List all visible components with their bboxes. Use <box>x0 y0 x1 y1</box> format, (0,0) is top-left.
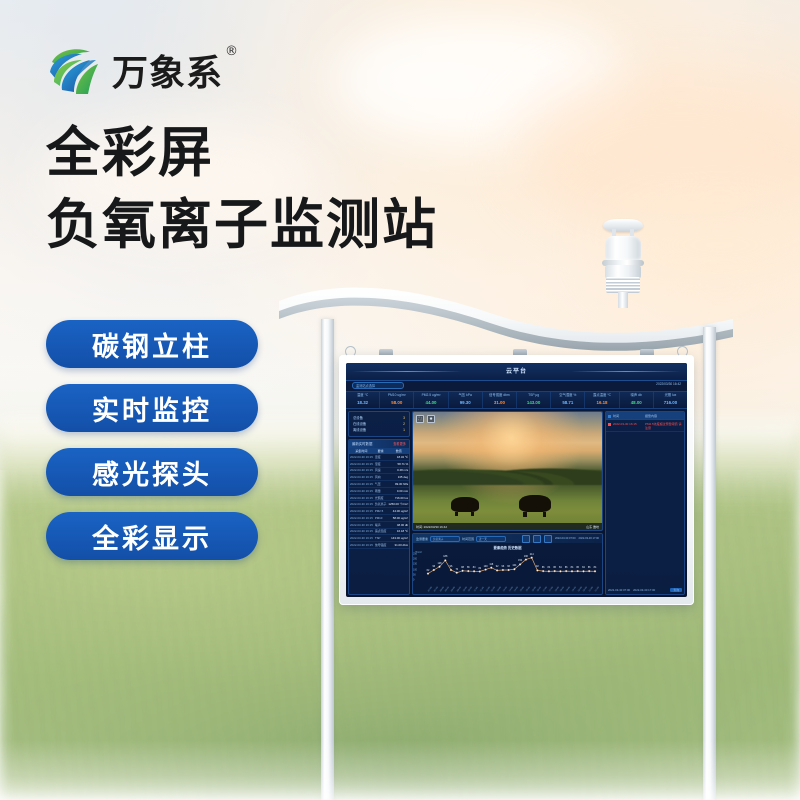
cell-value: 16.18 ℃ <box>387 528 410 535</box>
chart-title: 要素趋势 历史数据 <box>413 545 602 550</box>
cell-value: 0.00 mm <box>387 487 410 494</box>
chart-point[interactable] <box>479 571 481 573</box>
dashboard-clock: 2022/03/30 16:42 <box>656 382 681 386</box>
metric-value: 18.32 <box>346 399 379 407</box>
alarm-query-button[interactable]: 查询 <box>670 588 682 592</box>
line-chart-icon[interactable] <box>533 535 541 543</box>
chart-range-label: 时间范围 <box>462 537 474 541</box>
chart-point-label: 86 <box>565 566 568 569</box>
realtime-data-rows: 2022-03-30 16:15温度18.32 ℃2022-03-30 16:1… <box>349 454 410 548</box>
cell-time: 2022-03-30 16:15 <box>349 528 374 535</box>
chart-y-tick: 50 <box>413 573 416 576</box>
chart-point-label: 100 <box>484 564 488 567</box>
chart-x-tick: 20:00 <box>578 587 583 593</box>
table-row[interactable]: 2022-03-30 16:15光照度716.00 lux <box>349 494 410 501</box>
carbon-steel-post-right <box>703 327 716 800</box>
metric-humidity: 空气湿度 % 58.71 <box>551 392 585 408</box>
stat-row: 离线设备 1 <box>353 427 405 433</box>
alarm-date-from[interactable]: 2022-03-30 07:00 <box>608 588 630 592</box>
chart-x-tick: 09:00 <box>451 587 456 593</box>
metric-label: 气压 kPa <box>449 392 482 399</box>
chart-point[interactable] <box>467 570 469 572</box>
tree-line <box>413 459 602 485</box>
chart-point[interactable] <box>514 568 516 570</box>
metric-label: 温度 ℃ <box>346 392 379 399</box>
chart-point[interactable] <box>485 569 487 571</box>
cow-leg <box>455 512 458 517</box>
row-marker <box>608 415 611 418</box>
chart-x-tick: 10:00 <box>463 587 468 593</box>
chart-x-tick: 16:30 <box>537 587 542 593</box>
chart-point[interactable] <box>439 566 441 568</box>
alarm-footer: 2022-03-30 07:00 2022-03-30 17:00 查询 <box>606 586 684 594</box>
cell-value: 143.00 ug/m³ <box>387 535 410 542</box>
metric-value: 48.00 <box>620 399 653 407</box>
feature-pill-fullcolor-display[interactable]: 全彩显示 <box>46 512 258 560</box>
cell-name: 风向 <box>374 474 388 481</box>
sensor-body-upper <box>605 236 641 260</box>
carbon-steel-post-left <box>321 319 334 800</box>
cell-time: 2022-03-30 16:15 <box>349 460 374 467</box>
cell-name: 湿度 <box>374 460 388 467</box>
metric-label: 露点温度 ℃ <box>585 392 618 399</box>
chart-x-tick: 16:00 <box>532 587 537 593</box>
chart-date-to[interactable]: 2022-03-30 17:00 <box>579 537 599 540</box>
chart-point-label: 86 <box>467 566 470 569</box>
chart-point[interactable] <box>508 569 510 571</box>
metric-label: 噪声 db <box>620 392 653 399</box>
table-row[interactable]: 2022-03-30 16:15露点温度16.18 ℃ <box>349 528 410 535</box>
chart-x-tick: 11:30 <box>480 587 485 592</box>
chart-point[interactable] <box>542 570 544 572</box>
chart-point[interactable] <box>583 570 585 572</box>
feature-pill-list: 碳钢立柱 实时监控 感光探头 全彩显示 <box>46 320 258 560</box>
metric-value: 716.00 <box>654 399 687 407</box>
camera-toolbar: ⛶ ✸ <box>416 415 435 423</box>
chart-point[interactable] <box>588 570 590 572</box>
cell-value: 58.00 ug/m³ <box>387 515 410 522</box>
alarm-row[interactable]: 2022-03-30 16:15 PM2.5浓度超过预警阈值 请注意 <box>606 420 684 432</box>
cell-time: 2022-03-30 16:15 <box>349 542 374 549</box>
cell-time: 2022-03-30 16:15 <box>349 515 374 522</box>
chart-point[interactable] <box>554 570 556 572</box>
right-column: 时间 报警内容 2022-03-30 16:15 PM2.5浓度超过预警阈值 请… <box>605 411 685 595</box>
chart-x-tick: 10:30 <box>468 587 473 593</box>
metric-pm25: PM2.5 ug/m³ 44.00 <box>414 392 448 408</box>
metric-value: 44.00 <box>414 399 447 407</box>
chart-point-label: 82 <box>478 566 481 569</box>
metric-noise: 噪声 db 48.00 <box>620 392 654 408</box>
cell-name: 风速 <box>374 467 388 474</box>
realtime-data-header: 最新实时数据 查看更多 <box>349 440 409 448</box>
chart-point[interactable] <box>444 560 446 562</box>
registered-mark: ® <box>225 44 239 59</box>
cell-name: 信号强度 <box>374 542 388 549</box>
left-column: 总设备 3 在线设备 2 离线设备 1 <box>348 411 410 595</box>
table-row[interactable]: 2022-03-30 16:15湿度58.71 % <box>349 460 410 467</box>
alarm-text: PM2.5浓度超过预警阈值 请注意 <box>645 422 682 430</box>
chart-point-label: 86 <box>576 566 579 569</box>
alarm-panel: 时间 报警内容 2022-03-30 16:15 PM2.5浓度超过预警阈值 请… <box>605 411 685 595</box>
cell-time: 2022-03-30 16:15 <box>349 494 374 501</box>
bar-chart-icon[interactable] <box>522 535 530 543</box>
chart-point-label: 84 <box>571 566 574 569</box>
chart-point[interactable] <box>537 570 539 572</box>
cow-silhouette <box>451 497 479 512</box>
cell-name: 负氧离子 <box>374 501 388 508</box>
mount-bracket <box>379 349 393 355</box>
chart-x-tick: 15:30 <box>526 587 531 593</box>
cell-name: PM2.5 <box>374 508 388 515</box>
alarm-column-time: 时间 <box>613 414 643 418</box>
mount-bracket <box>640 349 654 355</box>
chart-point-label: 92 <box>496 565 499 568</box>
mount-hook-right <box>677 346 688 357</box>
chart-x-tick: 07:00 <box>428 587 433 593</box>
monitoring-station: 云平台 监测站点选择 2022/03/30 16:42 温度 ℃ 18.32 P… <box>255 215 745 785</box>
chart-x-tick: 14:30 <box>514 587 519 593</box>
chart-x-tick: 12:30 <box>491 587 496 593</box>
chart-x-tick: 19:00 <box>566 587 571 593</box>
cow-leg <box>471 512 474 517</box>
alert-marker <box>608 423 611 426</box>
chart-x-tick: 11:00 <box>474 587 479 592</box>
metric-label: 光照 lux <box>654 392 687 399</box>
chart-icon-group: 2022-03-30 07:00 2022-03-30 17:00 <box>522 535 599 543</box>
realtime-data-title: 最新实时数据 <box>352 442 372 446</box>
chart-point[interactable] <box>531 557 533 559</box>
metric-label: PM2.5 ug/m³ <box>414 392 447 399</box>
table-row[interactable]: 2022-03-30 16:15噪声48.00 db <box>349 521 410 528</box>
cell-name: 雨量 <box>374 487 388 494</box>
chart-point[interactable] <box>571 570 573 572</box>
camera-source: 山东 潍坊 <box>586 525 599 529</box>
camera-status-bar: 时间: 2022/03/30 16:42 山东 潍坊 <box>413 523 602 530</box>
chart-point-label: 62 <box>427 568 430 571</box>
chart-x-tick: 18:00 <box>555 587 560 593</box>
chart-x-tick: 20:30 <box>583 587 588 593</box>
chart-x-tick: 17:30 <box>549 587 554 593</box>
alarm-header-row: 时间 报警内容 <box>606 412 684 420</box>
chart-point[interactable] <box>502 569 504 571</box>
metric-pressure: 气压 kPa 99.30 <box>449 392 483 408</box>
cell-time: 2022-03-30 16:15 <box>349 474 374 481</box>
chart-point[interactable] <box>496 570 498 572</box>
cell-value: 44.00 ug/m³ <box>387 508 410 515</box>
brand-logo: 万象系 ® <box>46 42 223 98</box>
chart-x-tick: 17:00 <box>543 587 548 593</box>
chart-y-tick: 150 <box>413 563 417 566</box>
chart-x-tick: 18:30 <box>560 587 565 593</box>
table-row[interactable]: 2022-03-30 16:15信号强度31.00 dbm <box>349 542 410 549</box>
chart-point[interactable] <box>473 570 475 572</box>
cell-time: 2022-03-30 16:15 <box>349 508 374 515</box>
metric-label: TSP μg <box>517 392 550 399</box>
metric-dewpoint: 露点温度 ℃ 16.18 <box>585 392 619 408</box>
cell-value: 31.00 dbm <box>387 542 410 549</box>
cow-leg <box>523 512 526 517</box>
chart-point-label: 96 <box>507 565 510 568</box>
cell-name: 噪声 <box>374 521 388 528</box>
settings-icon[interactable]: ✸ <box>427 415 435 423</box>
chart-point[interactable] <box>548 570 550 572</box>
chart-point-label: 188 <box>443 555 447 558</box>
cell-name: PM10 <box>374 515 388 522</box>
chart-x-tick: 08:30 <box>445 587 450 593</box>
metrics-strip: 温度 ℃ 18.32 PM10 ug/m³ 58.00 PM2.5 ug/m³ … <box>346 391 687 409</box>
metric-signal: 信号强度 dbm 31.00 <box>483 392 517 408</box>
chart-range-select[interactable]: 近一天 <box>476 536 506 542</box>
cell-name: TSP <box>374 535 388 542</box>
dashboard-body: 总设备 3 在线设备 2 离线设备 1 <box>346 409 687 597</box>
chart-x-tick: 12:00 <box>486 587 491 593</box>
chart-point-label: 70 <box>455 568 458 571</box>
metric-label: 信号强度 dbm <box>483 392 516 399</box>
camera-image <box>413 412 602 530</box>
cell-value: 99.30 hPa <box>387 481 410 488</box>
metric-value: 16.18 <box>585 399 618 407</box>
brand-name-text: 万象系 <box>112 53 223 94</box>
chart-point-label: 86 <box>588 566 591 569</box>
chart-point[interactable] <box>462 570 464 572</box>
stat-value: 1 <box>403 427 405 433</box>
cell-value: 0.48 m/s <box>387 467 410 474</box>
cell-value: 48.00 db <box>387 521 410 528</box>
table-row[interactable]: 2022-03-30 16:15雨量0.00 mm <box>349 487 410 494</box>
cell-name: 光照度 <box>374 494 388 501</box>
device-stats-box: 总设备 3 在线设备 2 离线设备 1 <box>349 412 409 436</box>
cell-name: 露点温度 <box>374 528 388 535</box>
cell-value: 135 deg <box>387 474 410 481</box>
table-view-icon[interactable] <box>544 535 552 543</box>
cell-value: 1250.00 个/cm³ <box>387 501 410 508</box>
chart-point[interactable] <box>560 570 562 572</box>
cow-leg <box>543 512 546 517</box>
chart-point[interactable] <box>456 572 458 574</box>
headline-line-1: 全彩屏 <box>46 122 438 184</box>
dashboard-screen: 云平台 监测站点选择 2022/03/30 16:42 温度 ℃ 18.32 P… <box>346 363 687 597</box>
fullscreen-icon[interactable]: ⛶ <box>416 415 424 423</box>
camera-feed[interactable]: ⛶ ✸ 时间: 2022/03/30 16:42 山东 潍坊 <box>412 411 603 531</box>
chart-y-tick: 250 <box>413 553 417 556</box>
metric-value: 31.00 <box>483 399 516 407</box>
chart-point-label: 118 <box>489 563 493 566</box>
chart-point[interactable] <box>565 570 567 572</box>
chart-point-label: 86 <box>542 566 545 569</box>
chart-x-tick: 07:30 <box>434 587 439 593</box>
chart-point[interactable] <box>490 567 492 569</box>
chart-field-select[interactable]: 负氧离子 <box>430 536 460 542</box>
chart-point[interactable] <box>577 570 579 572</box>
chart-point-label: 86 <box>553 566 556 569</box>
chart-point[interactable] <box>525 559 527 561</box>
chart-x-tick: 21:30 <box>595 587 600 593</box>
chart-point-label: 84 <box>548 566 551 569</box>
chart-point-label: 150 <box>518 559 522 562</box>
chart-plot-area: 6296128188967088868482100118929696104150… <box>425 552 598 582</box>
center-column: ⛶ ✸ 时间: 2022/03/30 16:42 山东 潍坊 监测要素 <box>412 411 603 595</box>
cell-value: 716.00 lux <box>387 494 410 501</box>
chart-point[interactable] <box>427 573 429 575</box>
metric-illuminance: 光照 lux 716.00 <box>654 392 687 408</box>
table-row[interactable]: 2022-03-30 16:15气压99.30 hPa <box>349 481 410 488</box>
chart-x-tick: 13:00 <box>497 587 502 593</box>
feature-pill-realtime-monitor[interactable]: 实时监控 <box>46 384 258 432</box>
sensor-cap <box>603 219 643 232</box>
chart-point-label: 88 <box>461 566 464 569</box>
chart-point[interactable] <box>594 570 596 572</box>
cell-name: 气压 <box>374 481 388 488</box>
metric-tsp: TSP μg 143.00 <box>517 392 551 408</box>
dashboard-header: 云平台 <box>346 363 687 381</box>
chart-y-tick: 200 <box>413 558 417 561</box>
chart-point-label: 84 <box>559 566 562 569</box>
chart-point-label: 84 <box>473 566 476 569</box>
feature-pill-light-sensor[interactable]: 感光探头 <box>46 448 258 496</box>
stat-label: 离线设备 <box>353 427 366 433</box>
chart-y-tick: 0 <box>413 579 414 582</box>
metric-value: 58.71 <box>551 399 584 407</box>
table-row[interactable]: 2022-03-30 16:15负氧离子1250.00 个/cm³ <box>349 501 410 508</box>
metric-label: 空气湿度 % <box>551 392 584 399</box>
table-row[interactable]: 2022-03-30 16:15风速0.48 m/s <box>349 467 410 474</box>
mount-hook-left <box>345 346 356 357</box>
chart-point-label: 84 <box>582 566 585 569</box>
ultrasonic-weather-sensor-icon <box>593 215 653 295</box>
table-row[interactable]: 2022-03-30 16:15PM2.544.00 ug/m³ <box>349 508 410 515</box>
globe-swirl-icon <box>46 42 102 98</box>
chart-x-tick: 13:30 <box>503 587 508 593</box>
alarm-time: 2022-03-30 16:15 <box>613 422 643 430</box>
metric-pm10: PM10 ug/m³ 58.00 <box>380 392 414 408</box>
chart-y-tick: 100 <box>413 568 417 571</box>
chart-date-from[interactable]: 2022-03-30 07:00 <box>555 537 575 540</box>
chart-point-label: 96 <box>432 565 435 568</box>
metric-temperature: 温度 ℃ 18.32 <box>346 392 380 408</box>
camera-timestamp: 时间: 2022/03/30 16:42 <box>416 525 447 529</box>
table-row[interactable]: 2022-03-30 16:15TSP143.00 ug/m³ <box>349 535 410 542</box>
chart-x-tick: 19:30 <box>572 587 577 593</box>
metric-value: 99.30 <box>449 399 482 407</box>
chart-x-tick: 14:00 <box>509 587 514 593</box>
metric-value: 143.00 <box>517 399 550 407</box>
device-stats-panel: 总设备 3 在线设备 2 离线设备 1 <box>348 411 410 437</box>
metric-value: 58.00 <box>380 399 413 407</box>
chart-x-tick: 08:00 <box>440 587 445 593</box>
trend-chart-panel: 监测要素 负氧离子 时间范围 近一天 2022-03-30 07:00 2022… <box>412 533 603 595</box>
cell-value: 58.71 % <box>387 460 410 467</box>
alarm-date-to[interactable]: 2022-03-30 17:00 <box>633 588 655 592</box>
led-display-panel: 云平台 监测站点选择 2022/03/30 16:42 温度 ℃ 18.32 P… <box>339 355 694 605</box>
realtime-data-panel: 最新实时数据 查看更多 采集时间 要素 数值 <box>348 439 410 595</box>
chart-x-tick: 21:00 <box>589 587 594 593</box>
cell-time: 2022-03-30 16:15 <box>349 521 374 528</box>
chart-point-label: 196 <box>524 554 528 557</box>
chart-point[interactable] <box>433 569 435 571</box>
realtime-data-table: 采集时间 要素 数值 2022-03-30 16:15温度18.32 ℃2022… <box>349 448 410 549</box>
bottom-fade <box>0 740 800 800</box>
chart-point[interactable] <box>450 569 452 571</box>
brand-name: 万象系 ® <box>112 44 223 96</box>
chart-point-label: 96 <box>502 565 505 568</box>
chart-toolbar: 监测要素 负氧离子 时间范围 近一天 2022-03-30 07:00 2022… <box>413 534 602 543</box>
chart-point[interactable] <box>519 564 521 566</box>
cow-silhouette <box>519 495 551 513</box>
chart-point-label: 104 <box>512 564 516 567</box>
table-row[interactable]: 2022-03-30 16:15PM1058.00 ug/m³ <box>349 515 410 522</box>
chart-x-tick: 09:30 <box>457 587 462 593</box>
metric-label: PM10 ug/m³ <box>380 392 413 399</box>
dashboard-title: 云平台 <box>346 366 687 375</box>
station-select[interactable]: 监测站点选择 <box>352 382 404 389</box>
chart-point-label: 96 <box>450 565 453 568</box>
cell-time: 2022-03-30 16:15 <box>349 487 374 494</box>
cell-time: 2022-03-30 16:15 <box>349 501 374 508</box>
product-poster: 万象系 ® 全彩屏 负氧离子监测站 碳钢立柱 实时监控 感光探头 全彩显示 <box>0 0 800 800</box>
cell-time: 2022-03-30 16:15 <box>349 481 374 488</box>
chart-point-label: 84 <box>594 566 597 569</box>
cell-time: 2022-03-30 16:15 <box>349 467 374 474</box>
table-row[interactable]: 2022-03-30 16:15风向135 deg <box>349 474 410 481</box>
view-more-link[interactable]: 查看更多 <box>393 440 406 448</box>
feature-pill-steel-post[interactable]: 碳钢立柱 <box>46 320 258 368</box>
chart-field-label: 监测要素 <box>416 537 428 541</box>
mount-bracket <box>513 349 527 355</box>
chart-x-tick: 15:00 <box>520 587 525 593</box>
chart-point-label: 214 <box>530 553 534 556</box>
cell-time: 2022-03-30 16:15 <box>349 535 374 542</box>
chart-point-label: 128 <box>438 562 442 565</box>
alarm-column-text: 报警内容 <box>645 414 682 418</box>
chart-point-label: 92 <box>536 565 539 568</box>
